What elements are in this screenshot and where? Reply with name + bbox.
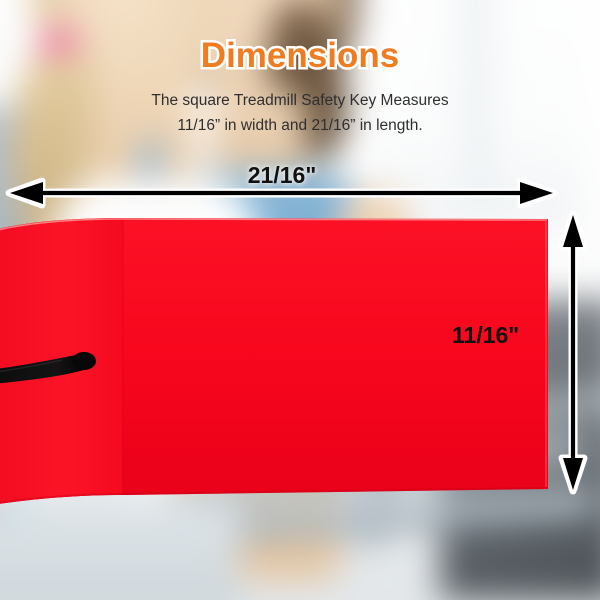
subtitle-line-2: 11/16” in width and 21/16” in length. [60, 113, 540, 138]
page-title-fill: Dimensions [0, 36, 600, 76]
infographic-canvas: Dimensions Dimensions The square Treadmi… [0, 0, 600, 600]
product-cord-tip [72, 352, 96, 370]
horizontal-dimension-value: 21/16" [248, 162, 316, 188]
horizontal-dimension-label: 21/16" [0, 162, 600, 189]
page-title: Dimensions Dimensions [0, 36, 600, 82]
vertical-dimension-label: 11/16" [452, 322, 519, 349]
page-subtitle: The square Treadmill Safety Key Measures… [60, 88, 540, 138]
subtitle-line-1: The square Treadmill Safety Key Measures [60, 88, 540, 113]
